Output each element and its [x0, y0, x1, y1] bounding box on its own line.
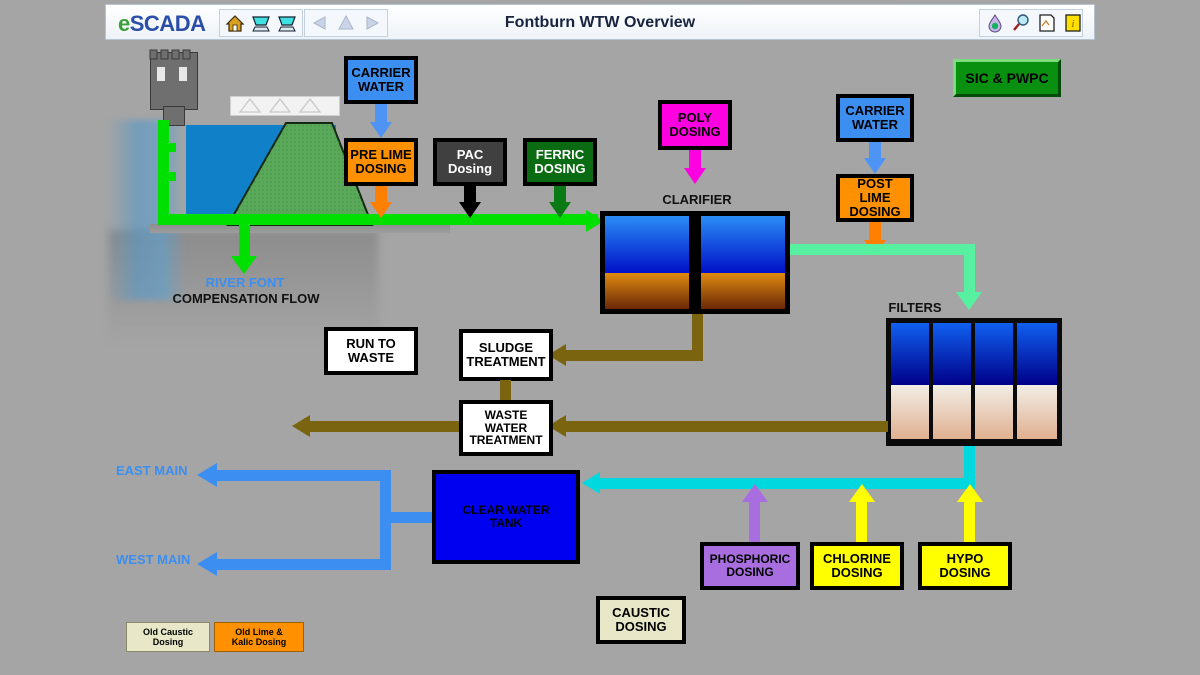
potable-distribution-riser [380, 470, 391, 570]
waste-water-outfall-arrow [292, 415, 310, 437]
clarifier-cell-1-sludge [605, 273, 689, 309]
application-header: eSCADA [105, 4, 1095, 40]
carrier-water-1-arrow [370, 122, 392, 138]
hypo-pipe [964, 500, 975, 542]
filter-cell-1-media [891, 385, 929, 439]
compensation-flow-arrow [231, 256, 257, 274]
clarifier-vessel[interactable] [600, 211, 790, 314]
spillway-gates [234, 97, 334, 113]
treatment-box-waste-water[interactable]: WASTE WATER TREATMENT [459, 400, 553, 456]
filter-cell-2-media [933, 385, 971, 439]
filter-cell-4-water [1017, 323, 1057, 385]
east-main-pipe [215, 470, 391, 481]
dosing-box-phosphoric[interactable]: PHOSPHORIC DOSING [700, 542, 800, 590]
sic-pwpc-button[interactable]: SIC & PWPC [953, 59, 1061, 97]
magnifier-icon[interactable] [1010, 12, 1032, 34]
dosing-box-pre-lime[interactable]: PRE LIME DOSING [344, 138, 418, 186]
note-icon[interactable]: i [1062, 12, 1084, 34]
filtered-water-main-pipe [600, 478, 975, 489]
clarified-water-downpipe [964, 244, 975, 296]
clarifier-cell-1-water [605, 216, 689, 273]
intake-tower [150, 52, 198, 110]
legend-old-caustic-dosing[interactable]: Old Caustic Dosing [126, 622, 210, 652]
tower-battlements [148, 48, 198, 60]
legend-old-lime-kalic-dosing[interactable]: Old Lime & Kalic Dosing [214, 622, 304, 652]
dosing-box-pac[interactable]: PAC Dosing [433, 138, 507, 186]
backwash-waste-pipe [566, 421, 888, 432]
west-main-label: WEST MAIN [116, 553, 212, 568]
page-icon[interactable] [1036, 12, 1058, 34]
sludge-to-wastewater-pipe [500, 380, 511, 402]
clarifier-label: CLARIFIER [652, 193, 742, 208]
dosing-box-poly[interactable]: POLY DOSING [658, 100, 732, 150]
svg-text:i: i [1071, 18, 1074, 30]
pre-lime-arrow [370, 202, 392, 218]
dosing-box-ferric[interactable]: FERRIC DOSING [523, 138, 597, 186]
page-title: Fontburn WTW Overview [106, 14, 1094, 32]
filter-cell-1-water [891, 323, 929, 385]
dosing-box-post-lime[interactable]: POST LIME DOSING [836, 174, 914, 222]
filter-cell-4-media [1017, 385, 1057, 439]
compensation-flow-label: COMPENSATION FLOW [165, 292, 327, 307]
dosing-box-carrier-water-1[interactable]: CARRIER WATER [344, 56, 418, 104]
toolbar-tools-group: i [979, 9, 1083, 37]
dosing-box-chlorine[interactable]: CHLORINE DOSING [810, 542, 904, 590]
ferric-arrow [549, 202, 571, 218]
treatment-box-clear-water-tank[interactable]: CLEAR WATER TANK [432, 470, 580, 564]
clear-water-tank-inlet-arrow [582, 472, 600, 494]
river-font-label: RIVER FONT [185, 276, 305, 291]
filter-cell-3-media [975, 385, 1013, 439]
filters-bank[interactable] [886, 318, 1062, 446]
scada-mimic-screen: eSCADA [0, 0, 1200, 675]
filters-label: FILTERS [878, 301, 952, 316]
east-main-label: EAST MAIN [116, 464, 208, 479]
poly-arrow [684, 168, 706, 184]
clarifier-cell-2-sludge [701, 273, 785, 309]
filter-cell-2-water [933, 323, 971, 385]
dosing-box-carrier-water-2[interactable]: CARRIER WATER [836, 94, 914, 142]
west-main-pipe [215, 559, 391, 570]
chlorine-pipe [856, 500, 867, 542]
raw-water-tap-2 [158, 172, 176, 181]
filters-inlet-arrow [956, 292, 982, 310]
dosing-box-hypo[interactable]: HYPO DOSING [918, 542, 1012, 590]
treatment-box-sludge[interactable]: SLUDGE TREATMENT [459, 329, 553, 381]
compensation-flow-pipe [239, 222, 250, 260]
carrier-water-2-arrow [864, 158, 886, 174]
waste-water-outfall-pipe [310, 421, 462, 432]
raw-water-tap-1 [158, 143, 176, 152]
clarifier-cell-2-water [701, 216, 785, 273]
dosing-box-caustic[interactable]: CAUSTIC DOSING [596, 596, 686, 644]
clarified-water-pipe [790, 244, 975, 255]
filter-cell-3-water [975, 323, 1013, 385]
water-drop-icon[interactable] [984, 12, 1006, 34]
sludge-to-treatment-pipe [566, 350, 703, 361]
treatment-box-run-to-waste[interactable]: RUN TO WASTE [324, 327, 418, 375]
phosphoric-pipe [749, 500, 760, 542]
pac-arrow [459, 202, 481, 218]
